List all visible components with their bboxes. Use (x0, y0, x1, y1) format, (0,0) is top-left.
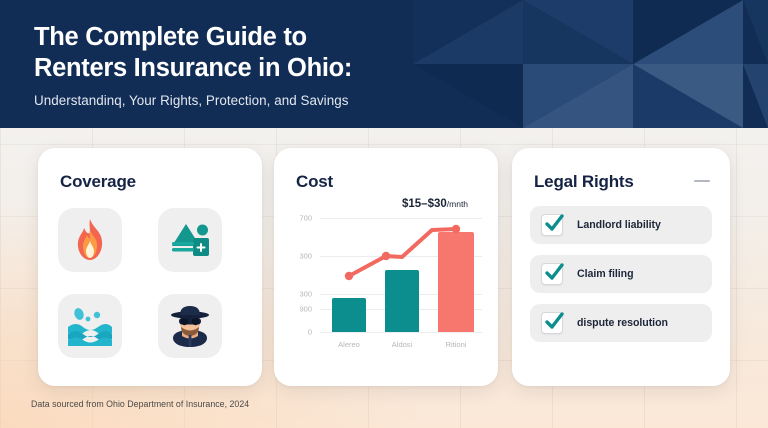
flood-water-icon (68, 306, 112, 346)
check-icon (543, 311, 565, 333)
theft-burglar-icon-tile[interactable] (158, 294, 222, 358)
coverage-card: Coverage (38, 148, 262, 386)
chart-annotation-unit: /mnth (447, 199, 468, 209)
list-item-label: Claim filing (577, 268, 634, 280)
page-title-line2: Renters Insurance in Ohio: (34, 53, 352, 84)
legal-rights-card: Legal Rights Landlord liability Claim fi… (512, 148, 730, 386)
chart-plot-area (324, 204, 482, 332)
chart-annotation-value: $15–$30 (402, 198, 447, 210)
page-subtitle: Understandinq, Your Rights, Protection, … (34, 93, 352, 108)
list-item[interactable]: Claim filing (530, 255, 712, 293)
chart-axis-line (320, 332, 482, 333)
header-text-block: The Complete Guide to Renters Insurance … (34, 22, 352, 108)
coverage-icon-grid (58, 208, 242, 366)
chart-xtick: Aldosi (392, 340, 412, 349)
list-item[interactable]: dispute resolution (530, 304, 712, 342)
cost-card: Cost 700 300 300 900 0 Alereo Aldosi (274, 148, 498, 386)
list-item[interactable]: Landlord liability (530, 206, 712, 244)
checkbox[interactable] (541, 263, 563, 285)
header-banner: The Complete Guide to Renters Insurance … (0, 0, 768, 128)
fire-icon (70, 218, 110, 262)
legal-rights-list: Landlord liability Claim filing dispute … (530, 206, 712, 353)
chart-ytick: 900 (290, 305, 312, 314)
theft-burglar-icon (168, 303, 212, 349)
check-icon (543, 213, 565, 235)
flood-water-icon-tile[interactable] (58, 294, 122, 358)
source-note: Data sourced from Ohio Department of Ins… (31, 399, 249, 409)
checkbox[interactable] (541, 214, 563, 236)
check-icon (543, 262, 565, 284)
page-title: The Complete Guide to Renters Insurance … (34, 22, 352, 84)
chart-annotation: $15–$30/mnth (402, 198, 468, 210)
coverage-card-title: Coverage (60, 172, 136, 192)
list-item-label: dispute resolution (577, 317, 668, 329)
header-geometric-pattern (348, 0, 768, 128)
document-card-icon-tile[interactable] (158, 208, 222, 272)
chart-ytick: 0 (290, 328, 312, 337)
document-card-icon (169, 220, 211, 260)
chart-ytick: 300 (290, 290, 312, 299)
checkbox[interactable] (541, 312, 563, 334)
fire-icon-tile[interactable] (58, 208, 122, 272)
chart-ytick: 700 (290, 214, 312, 223)
chart-xtick: Alereo (338, 340, 360, 349)
legal-rights-card-title: Legal Rights (534, 172, 634, 192)
cost-card-title: Cost (296, 172, 333, 192)
page-title-line1: The Complete Guide to (34, 22, 352, 53)
cost-bar-chart: 700 300 300 900 0 Alereo Aldosi Ritioni … (290, 204, 486, 364)
chart-trend-line (324, 204, 482, 332)
list-item-label: Landlord liability (577, 219, 661, 231)
chart-xtick: Ritioni (446, 340, 467, 349)
chart-ytick: 300 (290, 252, 312, 261)
minus-icon[interactable] (694, 180, 710, 182)
